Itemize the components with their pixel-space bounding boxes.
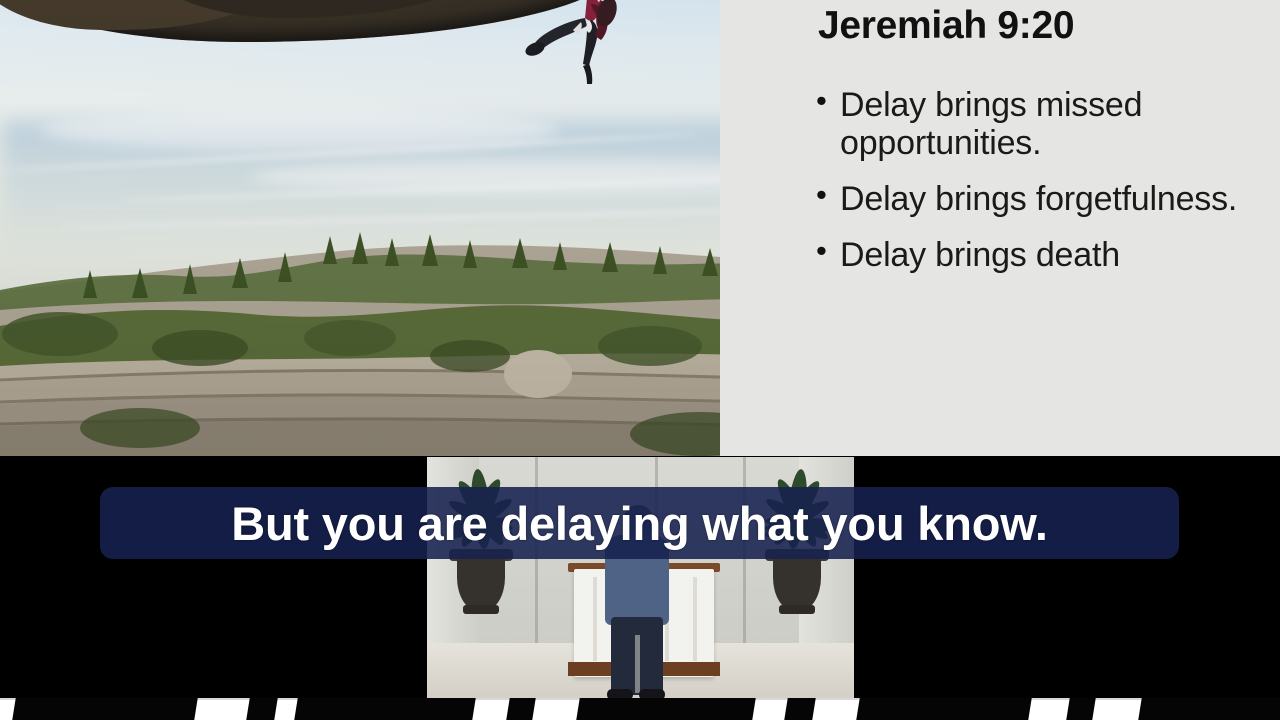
planter-foot: [463, 605, 499, 614]
pulpit-slat: [693, 577, 697, 661]
bullet-item: Delay brings forgetfulness.: [800, 180, 1270, 218]
subtitle-banner: But you are delaying what you know.: [100, 487, 1179, 559]
video-player-stage: Jeremiah 9:20 Delay brings missed opport…: [0, 0, 1280, 720]
planter-urn: [457, 555, 505, 611]
film-sprocket: [294, 698, 477, 720]
film-strip-transition: [0, 698, 1280, 720]
preacher-leg-gap: [635, 635, 640, 693]
verse-title: Jeremiah 9:20: [818, 4, 1074, 48]
pulpit-slat: [593, 577, 597, 661]
film-sprocket: [246, 698, 279, 720]
planter-urn: [773, 555, 821, 611]
subtitle-text: But you are delaying what you know.: [231, 496, 1048, 551]
film-sprocket: [1138, 698, 1280, 720]
film-sprocket: [576, 698, 757, 720]
film-sprocket: [856, 698, 1033, 720]
slide-text-block: Jeremiah 9:20 Delay brings missed opport…: [800, 0, 1280, 456]
film-sprocket: [506, 698, 537, 720]
planter-foot: [779, 605, 815, 614]
bullet-list: Delay brings missed opportunities. Delay…: [800, 86, 1270, 292]
bullet-item: Delay brings missed opportunities.: [800, 86, 1270, 162]
bullet-item: Delay brings death: [800, 236, 1270, 274]
film-sprocket: [784, 698, 817, 720]
film-sprocket: [12, 698, 199, 720]
film-sprocket: [1066, 698, 1097, 720]
slide-frame: Jeremiah 9:20 Delay brings missed opport…: [0, 0, 1280, 456]
